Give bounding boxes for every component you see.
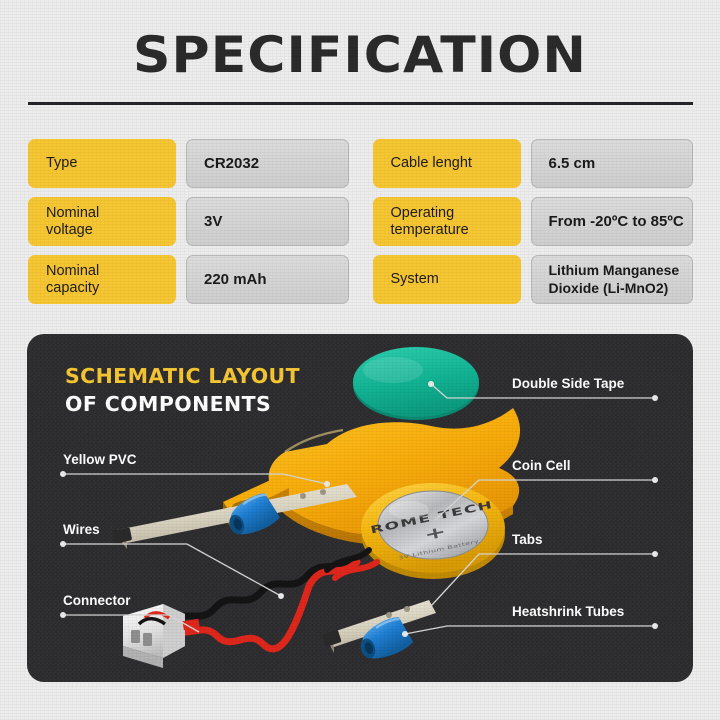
heatshrink-upper-body [227,490,282,538]
coin-cell-brand-text: ROME TECH [369,499,494,536]
heatshrink-lower-bore [363,641,374,655]
tab-upper-hole-1 [320,489,326,495]
callout-connector: Connector [63,593,131,608]
spec-row-nominal-capacity: Nominal capacity 220 mAh [28,255,349,304]
wire-red [170,562,357,649]
heatshrink-upper-highlight [242,493,266,504]
spec-label-system: System [373,255,521,304]
tab-upper-hole-2 [300,493,306,499]
tab-upper-component [112,484,357,549]
tape-shadow [353,350,479,420]
pvc-flap-edge [223,502,233,530]
spec-value-operating-temperature: From -20ºC to 85ºC [531,197,694,246]
double-side-tape-component [353,347,479,420]
heatshrink-upper-component [223,490,282,539]
tab-lower-strip [327,600,436,647]
wires-component [170,550,377,666]
spec-value-nominal-voltage: 3V [186,197,349,246]
wire-red-tail [335,562,377,578]
pvc-body [269,408,520,536]
coin-cell-face [378,491,488,559]
connector-pin-red [145,613,169,618]
callout-yellow-pvc: Yellow PVC [63,452,137,467]
pvc-highlight [285,430,343,452]
pvc-opening [232,499,286,515]
schematic-heading-line1: SCHEMATIC LAYOUT [65,362,300,390]
heatshrink-lower-component [355,614,415,663]
schematic-heading-line2: OF COMPONENTS [65,390,300,418]
schematic-heading: SCHEMATIC LAYOUT OF COMPONENTS [65,362,300,419]
spec-label-nominal-capacity: Nominal capacity [28,255,176,304]
callout-wires: Wires [63,522,100,537]
tab-upper-crimp [112,527,132,543]
leader-yellow-pvc [63,474,327,484]
callout-tabs: Tabs [512,532,543,547]
pvc-edge [271,488,513,545]
title-divider [28,102,693,105]
connector-body [123,604,185,658]
heatshrink-lower-opening [358,637,377,660]
coin-ring-shadow [361,489,505,579]
coin-cell-rim [378,491,488,559]
leader-wires [63,544,281,596]
spec-label-cable-length: Cable lenght [373,139,521,188]
tab-upper-end [117,530,127,549]
spec-value-type: CR2032 [186,139,349,188]
spec-row-operating-temperature: Operating temperature From -20ºC to 85ºC [373,197,694,246]
spec-value-cable-length: 6.5 cm [531,139,694,188]
heatshrink-upper-opening [227,513,247,537]
heatshrink-lower-body [358,614,415,662]
leader-endpoint-dots [60,381,658,637]
spec-label-operating-temperature: Operating temperature [373,197,521,246]
wire-black-spacer [170,618,307,666]
spec-value-nominal-capacity: 220 mAh [186,255,349,304]
coin-cell-polarity-text: + [423,522,448,544]
spec-row-type: Type CR2032 [28,139,349,188]
yellow-pvc-component [223,408,520,545]
spec-row-system: System Lithium Manganese Dioxide (Li-MnO… [373,255,694,304]
leader-connector [63,615,199,632]
specification-table: Type CR2032 Cable lenght 6.5 cm Nominal … [28,139,693,304]
pvc-flap-top [223,476,289,516]
connector-slot-1 [131,630,140,643]
connector-lead-red [182,619,199,630]
tape-highlight [363,357,423,383]
heatshrink-upper-bore [232,517,244,531]
spec-value-system: Lithium Manganese Dioxide (Li-MnO2) [531,255,694,304]
coin-cell-sub-text: 3V Lithium Battery [398,538,480,561]
connector-base [123,646,163,668]
wire-black-tail [327,550,369,570]
callout-double-side-tape: Double Side Tape [512,376,624,391]
coin-cell-component: ROME TECH + 3V Lithium Battery [361,483,505,579]
connector-slot-2 [143,633,152,646]
tab-lower-hole-2 [386,612,392,618]
heatshrink-lower-highlight [375,618,400,628]
coin-cell-highlight [389,501,429,519]
tape-disc [353,347,479,417]
spec-label-nominal-voltage: Nominal voltage [28,197,176,246]
leader-tabs [431,554,655,606]
coin-cell-branding: ROME TECH + 3V Lithium Battery [369,499,500,566]
spec-row-nominal-voltage: Nominal voltage 3V [28,197,349,246]
tab-lower-hole-1 [404,606,410,612]
callout-heatshrink-tubes: Heatshrink Tubes [512,604,624,619]
pvc-flap-inner [233,488,289,530]
tab-lower-component [322,600,436,653]
leader-heatshrink-tubes [405,626,655,634]
callout-coin-cell: Coin Cell [512,458,571,473]
coin-ring [361,483,505,573]
connector-pin-black [139,619,165,624]
schematic-panel: SCHEMATIC LAYOUT OF COMPONENTS [27,334,693,682]
tab-lower-end [327,634,334,653]
tab-lower-crimp [322,630,342,648]
connector-side [163,604,185,658]
spec-row-cable-length: Cable lenght 6.5 cm [373,139,694,188]
spec-label-type: Type [28,139,176,188]
wire-black [170,560,353,624]
tab-upper-strip [117,484,357,543]
connector-component [123,604,200,668]
page-title: SPECIFICATION [0,26,720,84]
leader-coin-cell [435,480,655,520]
